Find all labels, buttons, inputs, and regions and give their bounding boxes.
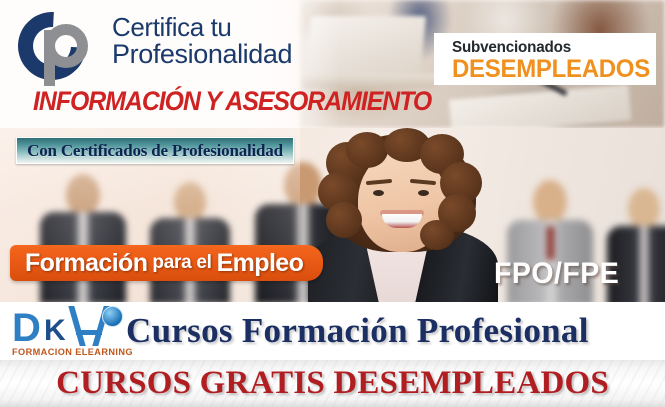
footer-headline: CURSOS GRATIS DESEMPLEADOS bbox=[0, 360, 665, 407]
pill-word-formacion: Formación bbox=[25, 249, 147, 278]
woman-portrait-photo bbox=[300, 128, 505, 302]
logo-line-2: Profesionalidad bbox=[112, 41, 342, 69]
logo-p-stem bbox=[44, 30, 55, 86]
header-section: Certifica tu Profesionalidad INFORMACIÓN… bbox=[0, 0, 665, 128]
certifica-logo-text: Certifica tu Profesionalidad bbox=[112, 14, 342, 68]
courses-title: Cursos Formación Profesional bbox=[126, 307, 656, 355]
pill-word-empleo: Empleo bbox=[217, 249, 304, 278]
header-tagline: INFORMACIÓN Y ASESORAMIENTO bbox=[33, 86, 364, 117]
dka-logo: D K FORMACION ELEARNING bbox=[10, 306, 128, 358]
subsidy-line-2: DESEMPLEADOS bbox=[452, 55, 650, 84]
certificate-badge-label: Con Certificados de Profesionalidad bbox=[27, 141, 283, 161]
footer-band: CURSOS GRATIS DESEMPLEADOS bbox=[0, 360, 665, 407]
subsidy-card: Subvencionados DESEMPLEADOS bbox=[434, 33, 656, 85]
pill-word-parael: para el bbox=[147, 252, 216, 274]
logo-line-1: Certifica tu bbox=[112, 14, 342, 41]
main-banner: Con Certificados de Profesionalidad FPO/… bbox=[0, 128, 665, 302]
globe-icon bbox=[102, 306, 123, 327]
certifica-logo-mark bbox=[14, 8, 110, 86]
courses-title-row: D K FORMACION ELEARNING Cursos Formación… bbox=[0, 302, 665, 360]
fpo-fpe-acronym: FPO/FPE bbox=[494, 257, 619, 291]
promotional-poster: Certifica tu Profesionalidad INFORMACIÓN… bbox=[0, 0, 665, 407]
dka-letter-k: K bbox=[44, 316, 66, 346]
dka-letter-d: D bbox=[12, 308, 40, 348]
certificate-badge: Con Certificados de Profesionalidad bbox=[16, 137, 294, 164]
dka-subtitle: FORMACION ELEARNING bbox=[12, 347, 136, 357]
employment-training-pill: Formación para el Empleo bbox=[10, 245, 323, 281]
